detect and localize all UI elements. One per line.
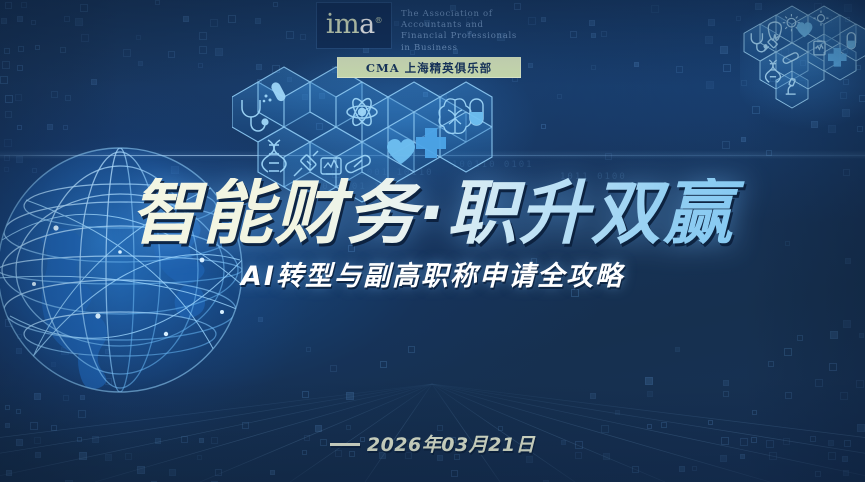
- texture-square: [346, 425, 351, 430]
- texture-square: [708, 420, 713, 425]
- texture-square: [5, 95, 13, 103]
- texture-square: [210, 19, 218, 27]
- texture-square: [183, 16, 189, 22]
- texture-square: [676, 66, 683, 73]
- right-hex-icon-cluster: [742, 0, 865, 112]
- event-date-line: 2026年03月21日: [0, 430, 865, 457]
- texture-square: [528, 17, 536, 25]
- texture-square: [679, 466, 685, 472]
- ima-wordmark: ima®: [326, 11, 382, 38]
- stethoscope-icon: [751, 33, 767, 52]
- clipboard-icon: [814, 41, 825, 55]
- texture-square: [856, 380, 864, 388]
- texture-square: [784, 348, 792, 356]
- texture-square: [723, 64, 731, 72]
- texture-square: [815, 379, 823, 387]
- texture-square: [21, 2, 27, 8]
- texture-square: [17, 125, 22, 130]
- texture-square: [815, 471, 821, 477]
- texture-square: [31, 20, 36, 25]
- texture-square: [2, 61, 10, 69]
- cma-club-badge-label: CMA 上海精英俱乐部: [366, 60, 492, 76]
- texture-square: [840, 92, 847, 99]
- texture-square: [105, 349, 110, 354]
- texture-square: [60, 47, 66, 53]
- texture-square: [4, 167, 9, 172]
- texture-square: [17, 65, 23, 71]
- texture-square: [5, 319, 13, 327]
- texture-square: [752, 106, 760, 114]
- texture-square: [81, 34, 89, 42]
- texture-square: [1, 18, 7, 24]
- texture-square: [5, 2, 12, 9]
- texture-square: [844, 4, 852, 12]
- texture-square: [708, 19, 715, 26]
- texture-square: [768, 361, 774, 367]
- texture-square: [645, 377, 653, 385]
- texture-square: [346, 392, 354, 400]
- texture-square: [16, 348, 22, 354]
- capsule-icon: [847, 33, 855, 49]
- texture-square: [845, 17, 850, 22]
- registered-trademark-icon: ®: [375, 16, 383, 25]
- texture-square: [843, 49, 848, 54]
- texture-square: [741, 137, 746, 142]
- texture-square: [785, 392, 792, 399]
- heart-icon: [797, 22, 813, 37]
- texture-square: [632, 466, 639, 473]
- texture-square: [330, 365, 337, 372]
- texture-square: [634, 62, 639, 67]
- title-zone: 智能财务·职升双赢 AI转型与副高职称申请全攻略: [0, 178, 865, 293]
- texture-square: [541, 124, 546, 129]
- texture-square: [0, 76, 8, 84]
- texture-square: [5, 423, 10, 428]
- page-title: 智能财务·职升双赢: [0, 178, 865, 248]
- ima-wordmark-im: im: [326, 9, 359, 40]
- texture-square: [814, 3, 822, 11]
- texture-square: [215, 48, 223, 56]
- texture-square: [199, 32, 207, 40]
- texture-square: [755, 3, 762, 10]
- texture-square: [439, 94, 447, 102]
- texture-square: [706, 81, 714, 89]
- texture-square: [256, 64, 262, 70]
- horizontal-divider: [0, 155, 865, 156]
- texture-square: [752, 410, 757, 415]
- texture-square: [286, 31, 294, 39]
- texture-square: [843, 320, 851, 328]
- texture-square: [647, 391, 653, 397]
- texture-square: [843, 169, 850, 176]
- texture-square: [228, 15, 236, 23]
- texture-square: [34, 393, 41, 400]
- texture-square: [380, 361, 387, 368]
- texture-square: [273, 2, 278, 7]
- texture-square: [570, 31, 577, 38]
- brain-icon: [439, 99, 471, 134]
- texture-square: [651, 5, 659, 13]
- texture-square: [799, 80, 806, 87]
- stethoscope-icon: [242, 100, 269, 131]
- texture-square: [198, 63, 203, 68]
- texture-square: [591, 65, 596, 70]
- texture-square: [615, 410, 620, 415]
- texture-square: [32, 168, 37, 173]
- texture-square: [661, 422, 667, 428]
- texture-square: [829, 363, 837, 371]
- binary-snippet: 100110 0101: [452, 160, 534, 170]
- texture-square: [840, 392, 848, 400]
- texture-square: [722, 141, 730, 149]
- ima-logo-mark: ima®: [317, 3, 391, 48]
- texture-square: [828, 125, 836, 133]
- texture-square: [423, 92, 428, 97]
- texture-square: [856, 65, 861, 70]
- right-hex-glow: [740, 0, 865, 130]
- pill-icon: [263, 81, 287, 103]
- texture-square: [4, 139, 12, 147]
- texture-square: [589, 20, 595, 26]
- texture-square: [18, 46, 24, 52]
- capsule-icon: [470, 99, 483, 125]
- texture-square: [675, 347, 680, 352]
- texture-square: [270, 470, 275, 475]
- texture-square: [825, 16, 832, 23]
- texture-square: [723, 391, 729, 397]
- texture-square: [169, 469, 176, 476]
- texture-square: [859, 333, 864, 338]
- texture-square: [842, 109, 850, 117]
- texture-square: [51, 91, 58, 98]
- texture-square: [47, 124, 53, 130]
- bandage-icon: [782, 52, 799, 65]
- texture-square: [741, 80, 747, 86]
- texture-square: [302, 94, 308, 100]
- texture-square: [78, 410, 86, 418]
- syringe-icon: [764, 36, 778, 51]
- page-subtitle: AI转型与副高职称申请全攻略: [0, 254, 865, 293]
- texture-square: [859, 95, 865, 102]
- ima-logo-block: ima® The Association of Accountants and …: [317, 3, 517, 54]
- texture-square: [736, 16, 741, 21]
- texture-square: [692, 466, 697, 471]
- texture-square: [51, 362, 56, 367]
- texture-square: [65, 95, 71, 101]
- texture-square: [541, 17, 546, 22]
- poster-canvas: 01001 10110 100110 0101 0110 1001 10 101…: [0, 0, 865, 482]
- texture-square: [857, 126, 863, 132]
- texture-square: [800, 60, 806, 66]
- texture-square: [770, 76, 776, 82]
- texture-square: [841, 36, 848, 43]
- texture-square: [15, 94, 22, 101]
- texture-square: [4, 48, 10, 54]
- texture-square: [137, 466, 145, 474]
- ima-wordmark-a: a: [359, 9, 375, 40]
- texture-square: [5, 405, 10, 410]
- texture-square: [557, 94, 562, 99]
- texture-square: [5, 111, 12, 118]
- texture-square: [80, 395, 85, 400]
- tooth-icon: [768, 22, 781, 40]
- texture-square: [528, 63, 533, 68]
- texture-square: [16, 409, 21, 414]
- texture-square: [105, 378, 112, 385]
- texture-square: [257, 79, 262, 84]
- texture-square: [63, 125, 68, 130]
- texture-square: [155, 0, 160, 5]
- texture-square: [17, 334, 22, 339]
- perspective-floor-grid: [0, 362, 865, 482]
- texture-square: [35, 45, 40, 50]
- texture-square: [705, 36, 713, 44]
- texture-square: [319, 93, 325, 99]
- texture-square: [6, 470, 12, 476]
- texture-square: [91, 79, 97, 85]
- texture-square: [61, 347, 69, 355]
- texture-square: [591, 33, 596, 38]
- texture-square: [590, 393, 596, 399]
- dna-icon: [766, 60, 781, 82]
- medical-cross-icon: [828, 48, 847, 67]
- texture-square: [63, 395, 69, 401]
- texture-square: [215, 469, 222, 476]
- texture-square: [451, 470, 458, 477]
- texture-square: [168, 51, 175, 58]
- virus-icon: [783, 14, 800, 31]
- texture-square: [647, 424, 652, 429]
- atom-icon: [347, 96, 377, 128]
- texture-square: [843, 79, 849, 85]
- texture-square: [843, 470, 849, 476]
- texture-square: [316, 123, 323, 130]
- texture-square: [796, 18, 804, 26]
- virus-icon: [813, 11, 828, 26]
- texture-square: [17, 16, 23, 22]
- texture-square: [829, 46, 836, 53]
- texture-square: [781, 48, 789, 56]
- texture-square: [75, 18, 83, 26]
- texture-square: [781, 19, 789, 27]
- texture-square: [723, 380, 729, 386]
- texture-square: [797, 335, 803, 341]
- texture-square: [830, 331, 838, 339]
- texture-square: [199, 46, 207, 54]
- texture-square: [242, 422, 249, 429]
- texture-square: [302, 391, 309, 398]
- texture-square: [123, 49, 131, 57]
- event-date: 2026年03月21日: [367, 434, 535, 456]
- texture-square: [408, 346, 415, 353]
- texture-square: [306, 347, 311, 352]
- texture-square: [811, 121, 818, 128]
- texture-square: [720, 46, 728, 54]
- ima-tagline: The Association of Accountants and Finan…: [401, 3, 517, 54]
- date-dash-rule: [330, 443, 360, 446]
- microscope-icon: [786, 78, 796, 94]
- texture-square: [255, 18, 261, 24]
- texture-square: [287, 77, 292, 82]
- texture-square: [64, 16, 70, 22]
- texture-square: [138, 61, 143, 66]
- texture-square: [258, 317, 263, 322]
- texture-square: [601, 31, 607, 37]
- texture-square: [300, 34, 306, 40]
- texture-square: [272, 65, 280, 73]
- texture-square: [136, 35, 141, 40]
- cma-club-badge: CMA 上海精英俱乐部: [337, 57, 521, 78]
- texture-square: [80, 4, 88, 12]
